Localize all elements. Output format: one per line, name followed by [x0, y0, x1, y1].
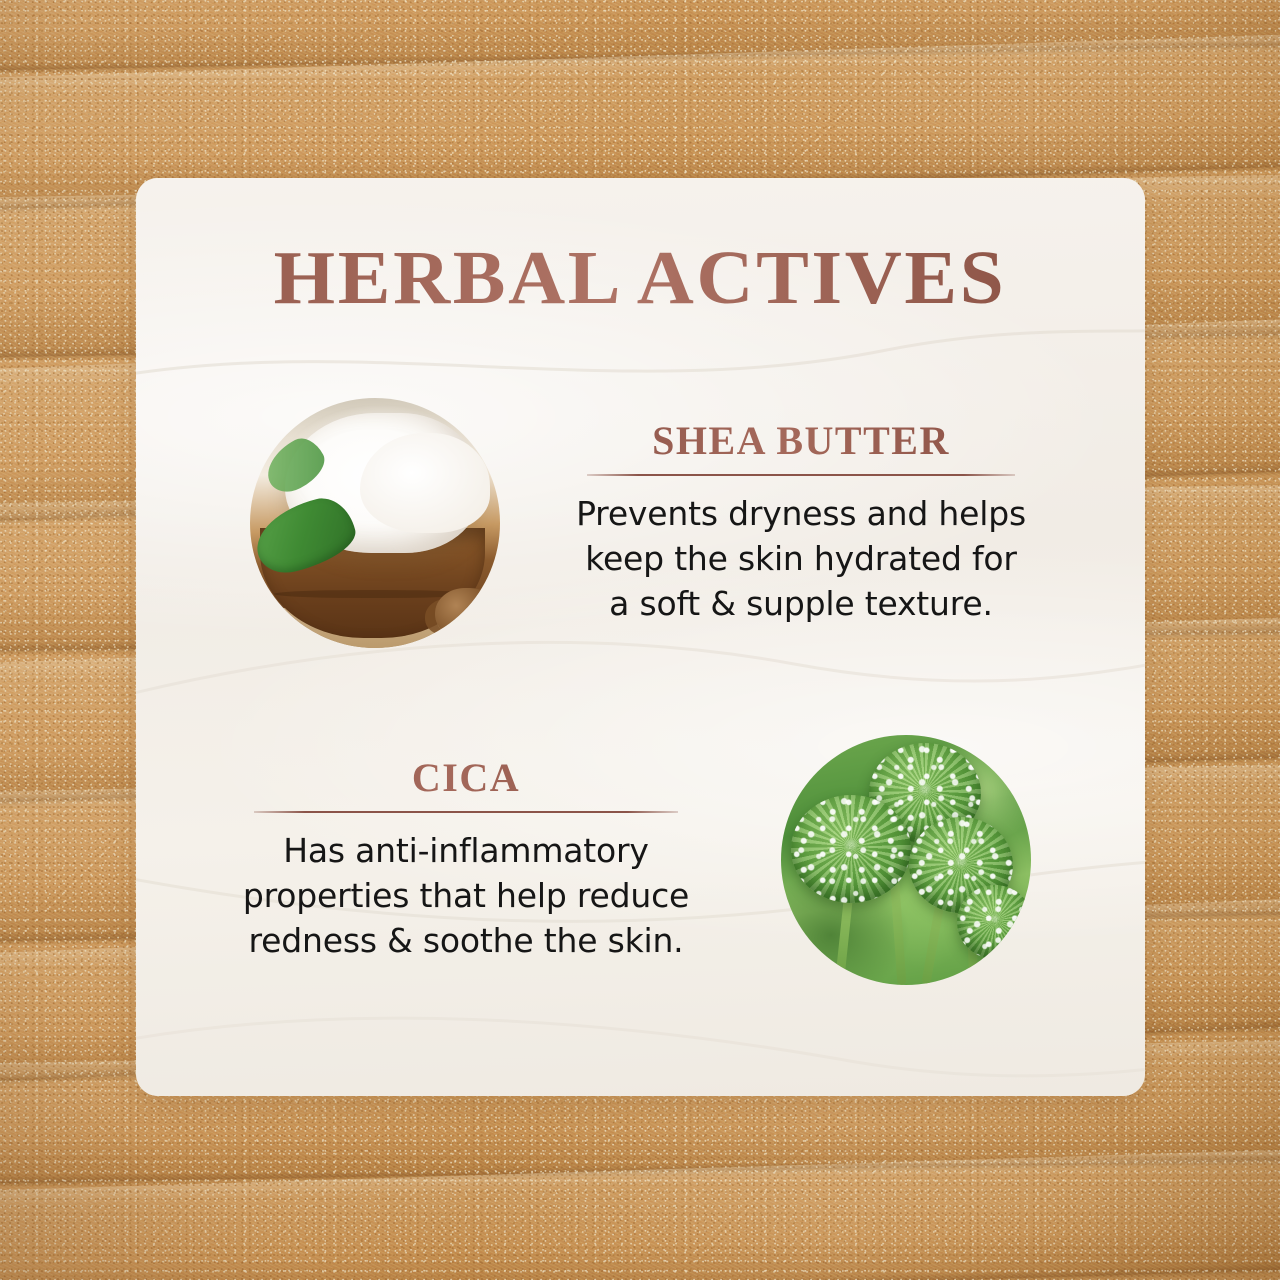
shea-butter-divider	[587, 474, 1015, 476]
cica-divider	[254, 811, 678, 813]
ingredient-block-shea-butter: SHEA BUTTER Prevents dryness and helps k…	[136, 398, 1145, 658]
cica-copy: CICA Has anti-inflammatory properties th…	[241, 757, 691, 964]
cica-photo-illustration	[781, 735, 1031, 985]
cica-heading: CICA	[241, 757, 691, 799]
shea-butter-photo-illustration	[250, 398, 500, 648]
shea-butter-image	[250, 398, 500, 648]
cica-image	[781, 735, 1031, 985]
shea-butter-description: Prevents dryness and helps keep the skin…	[576, 492, 1026, 627]
page-title: HERBAL ACTIVES	[0, 240, 1280, 316]
shea-butter-copy: SHEA BUTTER Prevents dryness and helps k…	[576, 420, 1026, 627]
cica-description: Has anti-inflammatory properties that he…	[241, 829, 691, 964]
ingredient-block-cica: CICA Has anti-inflammatory properties th…	[136, 735, 1145, 997]
infographic-stage: HERBAL ACTIVES SHEA BUTTER Prevents dryn…	[0, 0, 1280, 1280]
shea-butter-heading: SHEA BUTTER	[576, 420, 1026, 462]
